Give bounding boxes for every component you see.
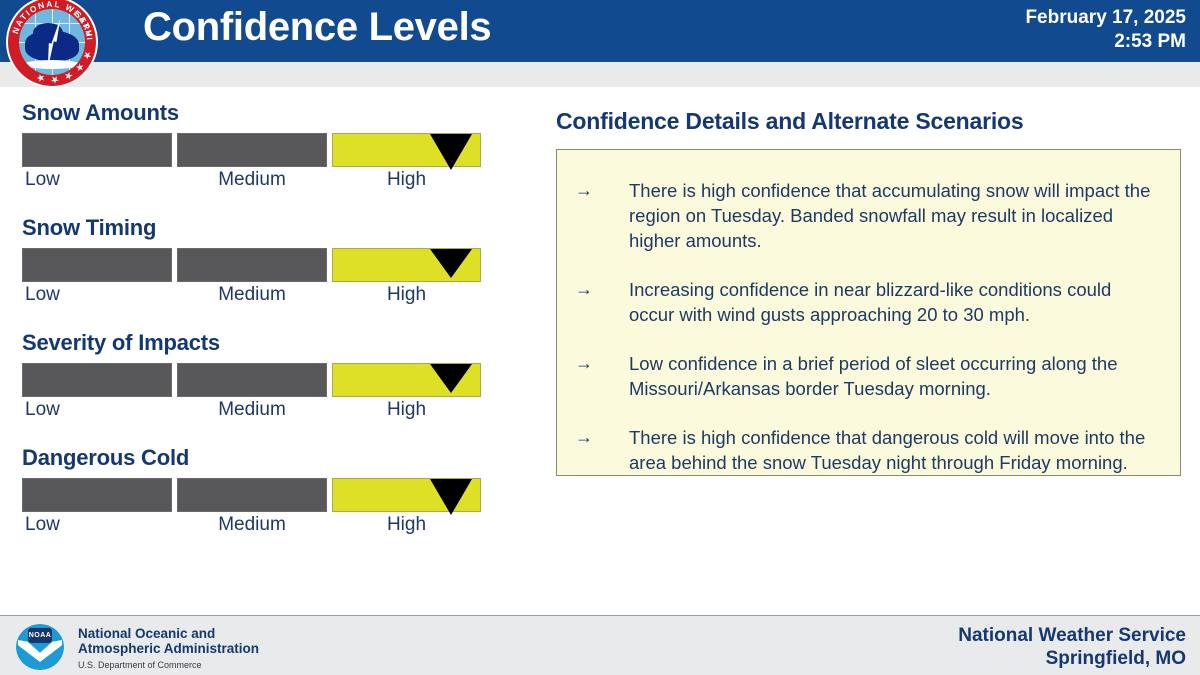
detail-bullet: → There is high confidence that dangerou… [575,425,1158,475]
detail-bullet: → Low confidence in a brief period of sl… [575,351,1158,401]
scale-label-medium: Medium [177,284,327,306]
scale-label-low: Low [25,514,60,536]
svg-text:★ ★ ★ ★ ★: ★ ★ ★ ★ ★ [34,50,94,85]
national-weather-service-seal-icon: NATIONAL WEATHER ★ ★ ★ ★ ★ SERVICE [6,0,98,88]
noaa-line-3: U.S. Department of Commerce [78,660,259,670]
detail-bullet-text: Increasing confidence in near blizzard-l… [629,277,1158,327]
arrow-right-icon: → [575,425,629,475]
noaa-logo-icon: NOAA [16,624,64,670]
seal-ring-text: NATIONAL WEATHER ★ ★ ★ ★ ★ SERVICE [6,0,98,88]
scale-segment-medium [177,478,327,512]
noaa-line-2: Atmospheric Administration [78,641,259,656]
scale-label-high: High [332,399,481,421]
office-identification: National Weather Service Springfield, MO [958,624,1186,670]
confidence-bars-panel: Snow Amounts Low Medium High Snow Timing [0,100,520,560]
confidence-scale-bar [22,478,481,512]
scale-segment-low [22,248,172,282]
details-heading: Confidence Details and Alternate Scenari… [556,108,1186,135]
detail-bullet: → Increasing confidence in near blizzard… [575,277,1158,327]
scale-segment-low [22,363,172,397]
scale-segment-low [22,478,172,512]
details-panel: Confidence Details and Alternate Scenari… [556,108,1186,476]
scale-label-high: High [332,169,481,191]
detail-bullet-text: There is high confidence that accumulati… [629,178,1158,253]
detail-bullet-text: There is high confidence that dangerous … [629,425,1158,475]
scale-segment-low [22,133,172,167]
scale-labels: Low Medium High [22,512,481,538]
confidence-row-snow-amounts: Snow Amounts Low Medium High [0,100,520,193]
confidence-levels-graphic: Confidence Levels February 17, 2025 2:53… [0,0,1200,675]
confidence-row-title: Snow Timing [22,215,520,241]
confidence-marker-triangle-icon [430,249,472,278]
noaa-wordmark: NOAA [28,628,52,643]
issue-time: 2:53 PM [1025,30,1186,54]
office-name: National Weather Service [958,624,1186,647]
details-box: → There is high confidence that accumula… [556,149,1181,476]
scale-segment-high [332,478,481,512]
scale-segment-high [332,133,481,167]
confidence-marker-triangle-icon [430,134,472,170]
scale-labels: Low Medium High [22,282,481,308]
confidence-row-dangerous-cold: Dangerous Cold Low Medium High [0,445,520,538]
page-title: Confidence Levels [143,5,491,50]
confidence-scale-bar [22,363,481,397]
noaa-agency-text: National Oceanic and Atmospheric Adminis… [78,626,259,670]
scale-segment-medium [177,133,327,167]
scale-label-medium: Medium [177,514,327,536]
confidence-row-title: Snow Amounts [22,100,520,126]
confidence-scale-bar [22,248,481,282]
detail-bullet: → There is high confidence that accumula… [575,178,1158,253]
scale-segment-medium [177,363,327,397]
confidence-marker-triangle-icon [430,364,472,393]
scale-segment-medium [177,248,327,282]
scale-segment-high [332,248,481,282]
confidence-scale-bar [22,133,481,167]
confidence-row-title: Dangerous Cold [22,445,520,471]
header-datetime: February 17, 2025 2:53 PM [1025,6,1186,54]
detail-bullet-text: Low confidence in a brief period of slee… [629,351,1158,401]
confidence-row-snow-timing: Snow Timing Low Medium High [0,215,520,308]
confidence-row-title: Severity of Impacts [22,330,520,356]
scale-label-medium: Medium [177,169,327,191]
scale-label-low: Low [25,284,60,306]
confidence-marker-triangle-icon [430,479,472,515]
arrow-right-icon: → [575,178,629,253]
scale-labels: Low Medium High [22,397,481,423]
header-bar: Confidence Levels February 17, 2025 2:53… [0,0,1200,62]
header-underbar [0,62,1200,87]
issue-date: February 17, 2025 [1025,6,1186,30]
noaa-line-1: National Oceanic and [78,626,259,641]
scale-label-high: High [332,514,481,536]
scale-labels: Low Medium High [22,167,481,193]
office-location: Springfield, MO [958,647,1186,670]
scale-label-high: High [332,284,481,306]
footer-bar: NOAA National Oceanic and Atmospheric Ad… [0,615,1200,675]
scale-label-low: Low [25,169,60,191]
arrow-right-icon: → [575,277,629,327]
scale-label-medium: Medium [177,399,327,421]
scale-label-low: Low [25,399,60,421]
arrow-right-icon: → [575,351,629,401]
confidence-row-severity-of-impacts: Severity of Impacts Low Medium High [0,330,520,423]
scale-segment-high [332,363,481,397]
